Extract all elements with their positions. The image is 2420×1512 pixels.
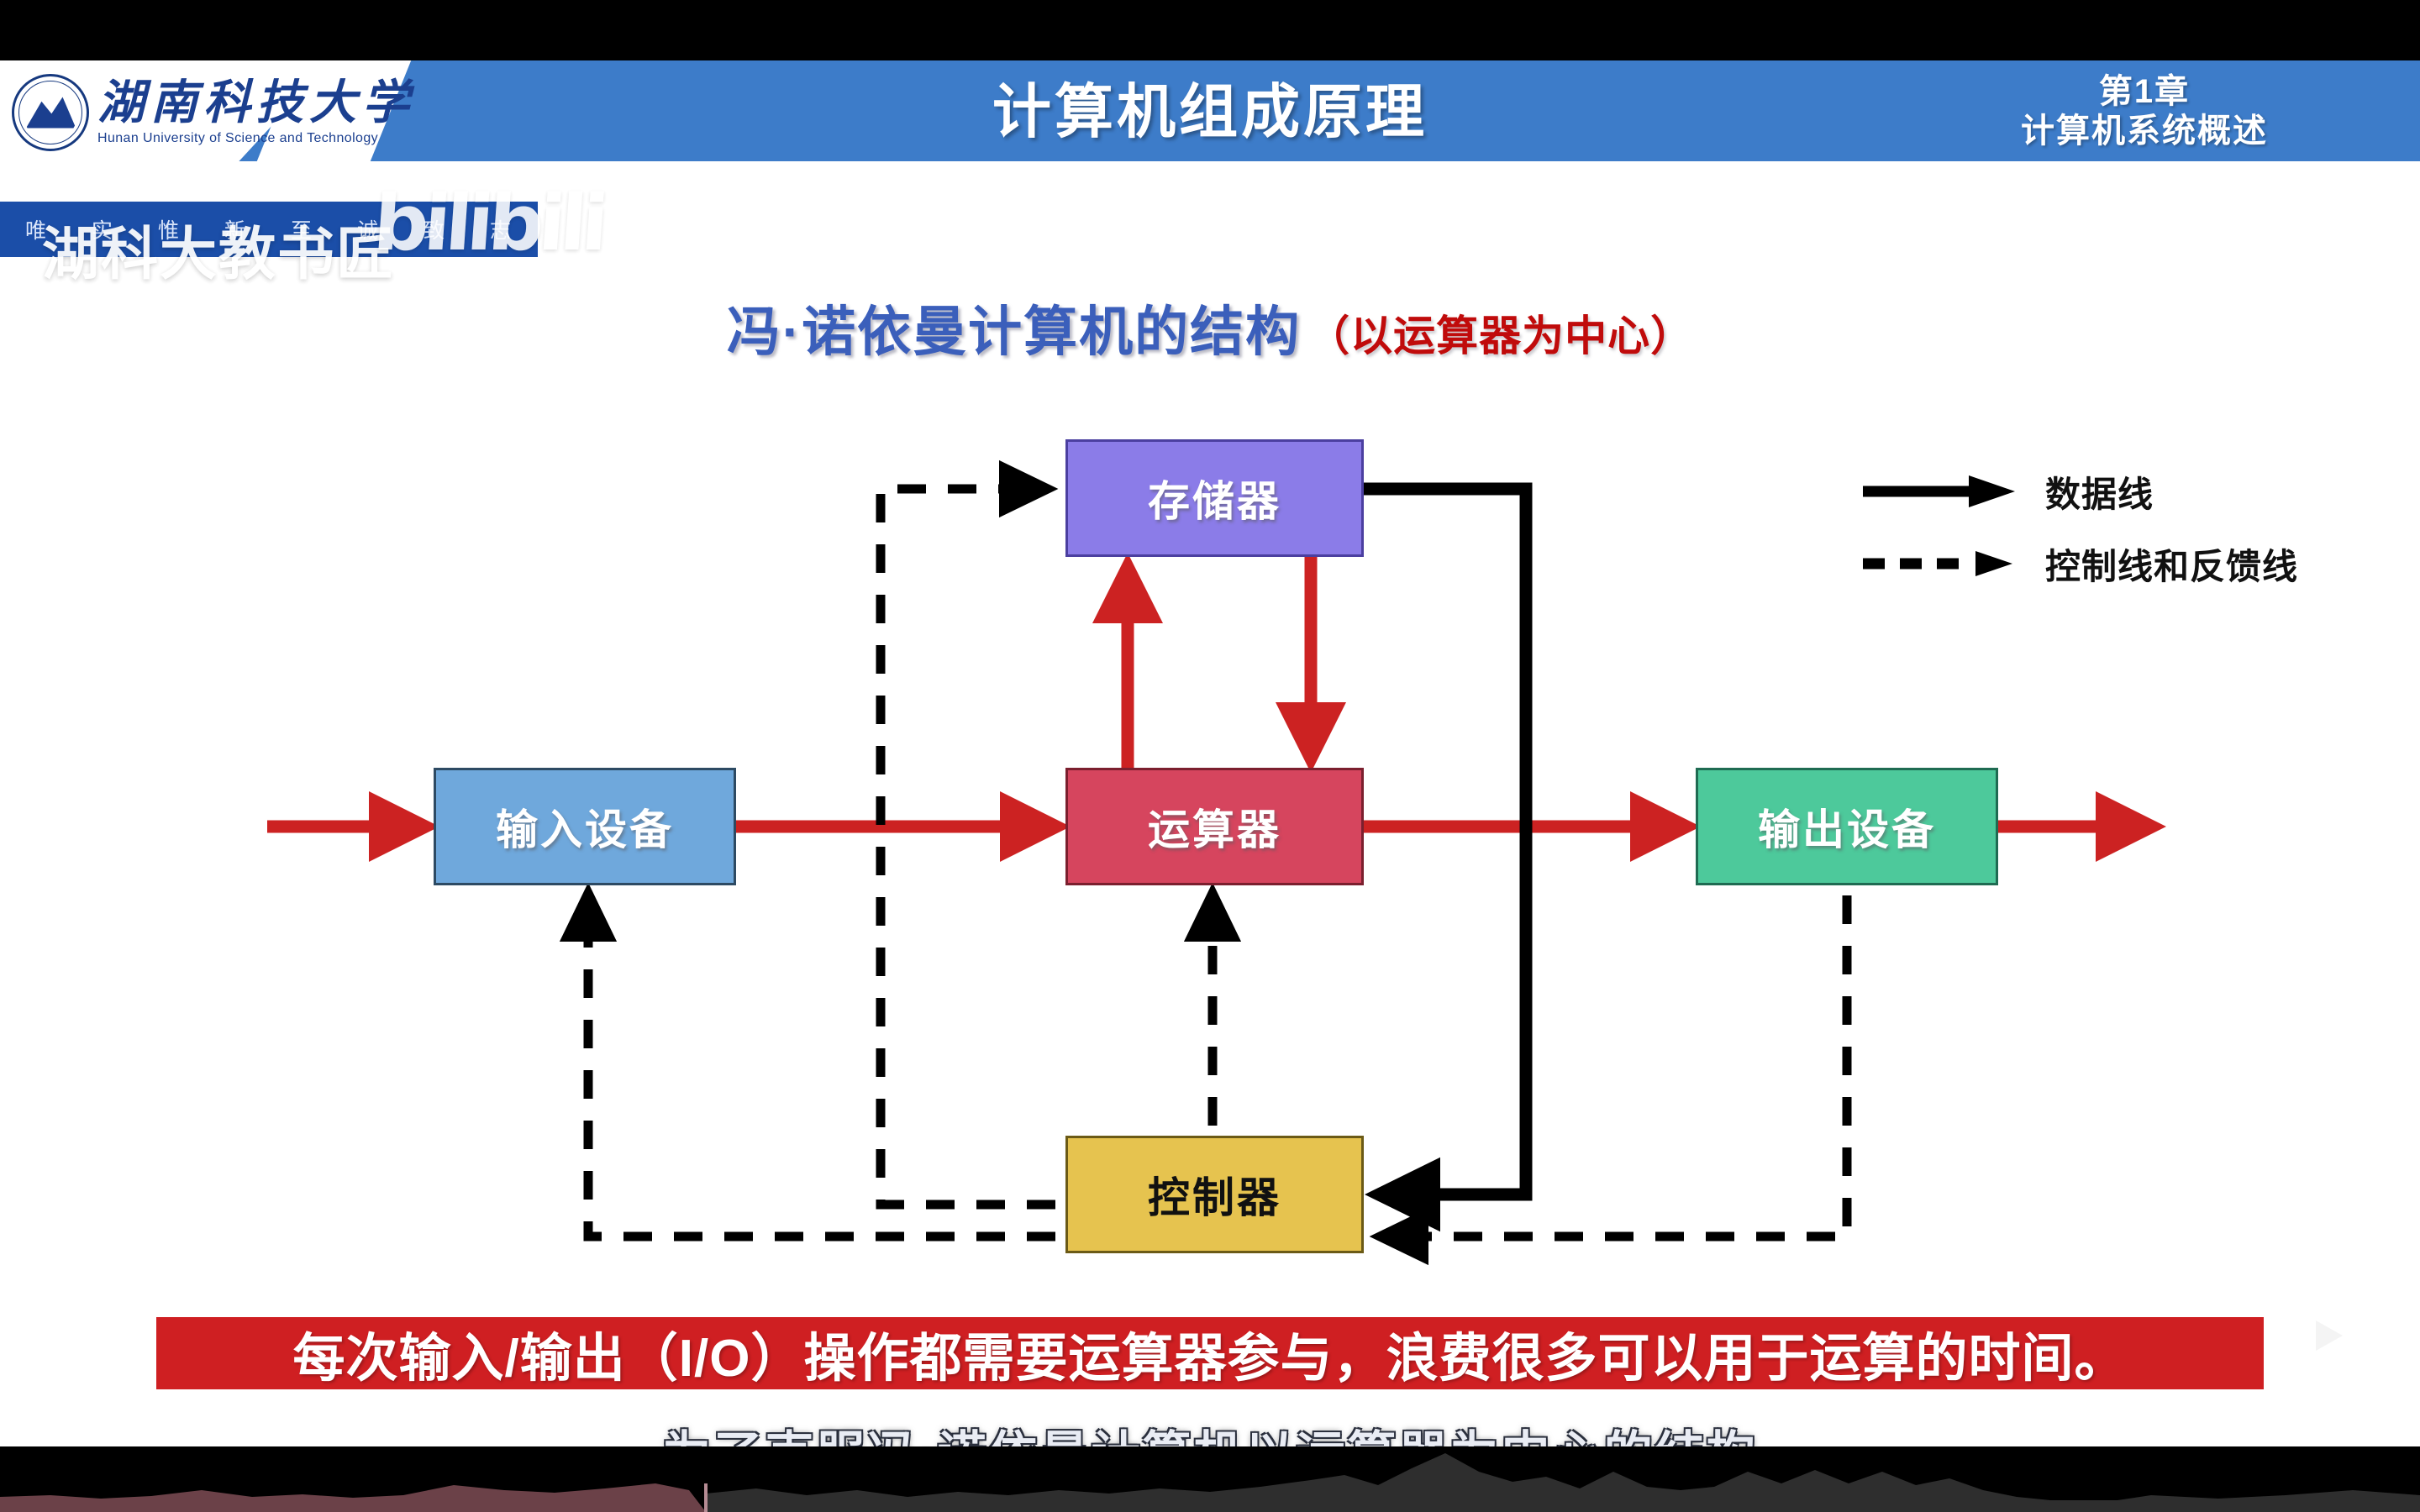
node-output-device[interactable]: 输出设备 bbox=[1696, 768, 1998, 885]
slide-subtitle-main: 冯·诺依曼计算机的结构 bbox=[727, 302, 1301, 362]
university-name-cn: 湖南科技大学 bbox=[97, 80, 415, 127]
dashed-arrow-icon bbox=[1861, 544, 2017, 583]
diagram-legend: 数据线 控制线和反馈线 bbox=[1861, 455, 2399, 600]
node-memory[interactable]: 存储器 bbox=[1065, 439, 1364, 557]
bilibili-tv-play-icon bbox=[2275, 1285, 2375, 1376]
legend-label-data-line: 数据线 bbox=[2045, 466, 2154, 517]
slide-subtitle: 冯·诺依曼计算机的结构（以运算器为中心） bbox=[0, 289, 2420, 366]
channel-watermark: 湖科大教书匠 bbox=[42, 207, 395, 291]
university-logo-text: 湖南科技大学 Hunan University of Science and T… bbox=[97, 80, 415, 146]
slide-subtitle-paren: （以运算器为中心） bbox=[1307, 312, 1693, 360]
university-name-en: Hunan University of Science and Technolo… bbox=[97, 131, 415, 146]
video-progress-heatmap[interactable] bbox=[0, 1446, 2420, 1512]
edge-memory-to-controller bbox=[1364, 489, 1526, 1194]
edge-output-to-controller bbox=[1382, 895, 1847, 1236]
chapter-label: 第1章 计算机系统概述 bbox=[1901, 72, 2388, 151]
heatmap-graph bbox=[0, 1446, 2420, 1512]
slide-canvas: 湖南科技大学 Hunan University of Science and T… bbox=[0, 60, 2420, 1446]
edge-controller-to-memory bbox=[881, 489, 1055, 1205]
bilibili-watermark: bilibili bbox=[371, 178, 606, 268]
edge-controller-to-input bbox=[588, 895, 1055, 1236]
chapter-name: 计算机系统概述 bbox=[1901, 111, 2388, 151]
university-logo: 湖南科技大学 Hunan University of Science and T… bbox=[12, 74, 415, 151]
node-controller[interactable]: 控制器 bbox=[1065, 1136, 1364, 1253]
legend-label-control-line: 控制线和反馈线 bbox=[2045, 538, 2298, 590]
node-input-device[interactable]: 输入设备 bbox=[434, 768, 736, 885]
slide-header-band: 湖南科技大学 Hunan University of Science and T… bbox=[0, 60, 2420, 161]
video-caption: 为了克服冯·诺依曼计算机以运算器为中心的结构 bbox=[0, 1415, 2420, 1446]
legend-item-data-line: 数据线 bbox=[1861, 455, 2399, 528]
chapter-number: 第1章 bbox=[1901, 72, 2388, 111]
university-seal-icon bbox=[12, 74, 89, 151]
legend-item-control-line: 控制线和反馈线 bbox=[1861, 528, 2399, 600]
node-alu[interactable]: 运算器 bbox=[1065, 768, 1364, 885]
video-frame-stage: 湖南科技大学 Hunan University of Science and T… bbox=[0, 0, 2420, 1512]
course-title: 计算机组成原理 bbox=[807, 72, 1613, 152]
solid-arrow-icon bbox=[1861, 472, 2017, 511]
summary-banner: 每次输入/输出（I/O）操作都需要运算器参与，浪费很多可以用于运算的时间。 bbox=[156, 1317, 2264, 1389]
